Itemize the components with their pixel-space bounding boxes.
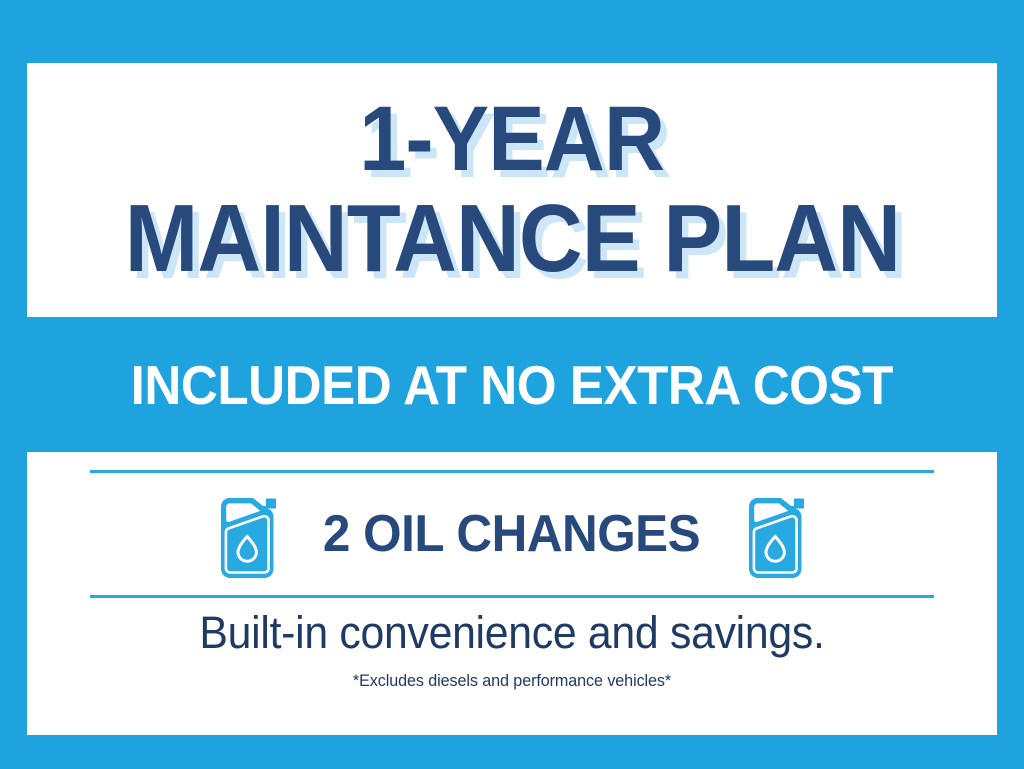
subtitle-text: INCLUDED AT NO EXTRA COST: [131, 353, 893, 417]
headline-line-2: MAINTANCE PLAN: [124, 193, 899, 284]
oil-jug-icon-left: [217, 489, 279, 579]
headline-line-1: 1-YEAR: [360, 96, 665, 183]
tagline: Built-in convenience and savings.: [51, 607, 973, 659]
details-panel: 2 OIL CHANGES Built-in convenience and s…: [27, 452, 997, 735]
promo-poster: 1-YEAR MAINTANCE PLAN INCLUDED AT NO EXT…: [0, 0, 1024, 769]
divider-top: [90, 470, 934, 473]
headline-block: 1-YEAR MAINTANCE PLAN: [27, 63, 997, 317]
offer-title: 2 OIL CHANGES: [323, 504, 700, 564]
details-inner: 2 OIL CHANGES Built-in convenience and s…: [27, 452, 997, 735]
headline-panel: 1-YEAR MAINTANCE PLAN: [27, 63, 997, 317]
oil-jug-icon-right: [745, 489, 807, 579]
offer-row: 2 OIL CHANGES: [90, 477, 934, 591]
fineprint-disclaimer: *Excludes diesels and performance vehicl…: [51, 671, 973, 691]
divider-bottom: [90, 595, 934, 598]
subtitle-band: INCLUDED AT NO EXTRA COST: [0, 330, 1024, 440]
